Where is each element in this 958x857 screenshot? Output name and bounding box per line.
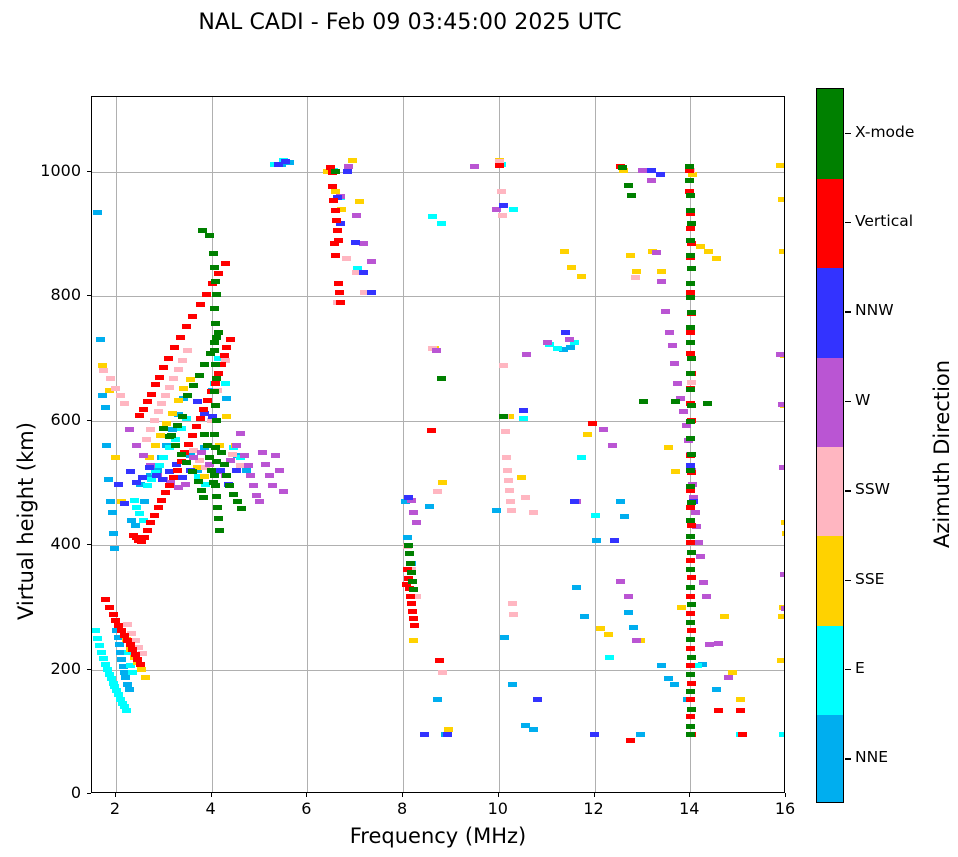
scatter-marker-vertical xyxy=(410,623,419,628)
scatter-marker-vertical xyxy=(170,345,179,350)
scatter-marker-ssw xyxy=(508,601,517,606)
scatter-marker-w xyxy=(657,279,666,284)
scatter-marker-x-mode xyxy=(195,373,204,378)
scatter-marker-ssw xyxy=(498,213,507,218)
scatter-marker-w xyxy=(132,443,141,448)
scatter-marker-x-mode xyxy=(406,561,415,566)
scatter-marker-vertical xyxy=(146,520,155,525)
scatter-marker-x-mode xyxy=(687,310,696,315)
scatter-marker-x-mode xyxy=(499,414,508,419)
scatter-marker-x-mode xyxy=(686,281,695,286)
scatter-marker-vertical xyxy=(686,714,695,719)
scatter-marker-w xyxy=(236,431,245,436)
scatter-marker-w xyxy=(696,554,705,559)
scatter-marker-x-mode xyxy=(686,567,695,572)
x-tick-label: 2 xyxy=(85,799,145,818)
scatter-marker-x-mode xyxy=(686,468,695,473)
scatter-marker-ssw xyxy=(507,508,516,513)
scatter-marker-x-mode xyxy=(206,351,215,356)
scatter-marker-nnw xyxy=(120,501,129,506)
scatter-marker-vertical xyxy=(686,611,695,616)
scatter-marker-vertical xyxy=(686,226,695,231)
scatter-marker-sse xyxy=(560,249,569,254)
colorbar-segment-nne xyxy=(817,715,843,803)
scatter-marker-vertical xyxy=(199,407,208,412)
scatter-marker-e xyxy=(428,214,437,219)
scatter-marker-nnw xyxy=(126,469,135,474)
scatter-marker-x-mode xyxy=(686,620,695,625)
scatter-marker-x-mode xyxy=(167,433,176,438)
scatter-marker-x-mode xyxy=(685,164,694,169)
scatter-marker-x-mode xyxy=(197,488,206,493)
scatter-marker-sse xyxy=(517,475,526,480)
scatter-marker-w xyxy=(249,483,258,488)
scatter-marker-nne xyxy=(492,508,501,513)
scatter-marker-vertical xyxy=(202,292,211,297)
scatter-marker-vertical xyxy=(687,575,696,580)
colorbar-label-ssw: SSW xyxy=(855,480,890,498)
scatter-marker-w xyxy=(265,473,274,478)
scatter-marker-sse xyxy=(151,443,160,448)
scatter-marker-x-mode xyxy=(212,494,221,499)
scatter-marker-vertical xyxy=(427,428,436,433)
scatter-marker-w xyxy=(780,572,785,577)
scatter-marker-x-mode xyxy=(212,418,221,423)
scatter-marker-ssw xyxy=(161,393,170,398)
scatter-marker-x-mode xyxy=(639,399,648,404)
scatter-marker-e xyxy=(132,505,141,510)
scatter-marker-e xyxy=(128,670,137,675)
scatter-marker-vertical xyxy=(331,253,340,258)
figure-title: NAL CADI - Feb 09 03:45:00 2025 UTC xyxy=(0,10,820,35)
scatter-marker-x-mode xyxy=(331,169,340,174)
scatter-marker-x-mode xyxy=(671,399,680,404)
scatter-marker-w xyxy=(252,493,261,498)
scatter-marker-sse xyxy=(781,520,785,525)
scatter-marker-x-mode xyxy=(205,233,214,238)
y-tick xyxy=(87,171,91,172)
colorbar-tick xyxy=(845,222,851,223)
scatter-marker-sse xyxy=(355,199,364,204)
plot-area xyxy=(91,96,785,793)
scatter-marker-x-mode xyxy=(189,383,198,388)
scatter-marker-vertical xyxy=(139,407,148,412)
scatter-marker-x-mode xyxy=(213,505,222,510)
scatter-marker-x-mode xyxy=(212,376,221,381)
colorbar-segment-w xyxy=(817,357,843,447)
scatter-marker-w xyxy=(673,381,682,386)
scatter-marker-x-mode xyxy=(687,221,696,226)
scatter-marker-nne xyxy=(636,732,645,737)
scatter-marker-x-mode xyxy=(686,295,695,300)
scatter-marker-w xyxy=(409,510,418,515)
scatter-marker-ssw xyxy=(154,409,163,414)
scatter-marker-w xyxy=(232,443,241,448)
scatter-marker-vertical xyxy=(165,483,174,488)
x-tick xyxy=(785,793,786,797)
scatter-marker-x-mode xyxy=(199,495,208,500)
scatter-marker-w xyxy=(271,453,280,458)
scatter-marker-sse xyxy=(583,432,592,437)
scatter-marker-vertical xyxy=(687,628,696,633)
scatter-marker-vertical xyxy=(333,228,342,233)
scatter-marker-x-mode xyxy=(210,306,219,311)
y-tick xyxy=(87,669,91,670)
scatter-marker-nnw xyxy=(519,408,528,413)
scatter-marker-vertical xyxy=(626,738,635,743)
scatter-marker-vertical xyxy=(220,353,229,358)
scatter-marker-nne xyxy=(508,682,517,687)
scatter-marker-vertical xyxy=(588,421,597,426)
scatter-marker-e xyxy=(553,346,562,351)
scatter-marker-nne xyxy=(657,663,666,668)
scatter-marker-w xyxy=(778,402,785,407)
scatter-marker-x-mode xyxy=(686,518,695,523)
scatter-marker-vertical xyxy=(328,184,337,189)
scatter-marker-nne xyxy=(403,535,412,540)
y-tick-label: 200 xyxy=(21,659,81,678)
scatter-marker-sse xyxy=(778,197,785,202)
scatter-marker-x-mode xyxy=(222,473,231,478)
scatter-marker-vertical xyxy=(335,290,344,295)
colorbar-segment-ssw xyxy=(817,447,843,537)
scatter-marker-nnw xyxy=(610,538,619,543)
x-tick xyxy=(498,793,499,797)
scatter-marker-vertical xyxy=(221,261,230,266)
scatter-marker-w xyxy=(661,309,670,314)
scatter-marker-sse xyxy=(712,256,721,261)
scatter-marker-vertical xyxy=(686,558,695,563)
scatter-marker-nnw xyxy=(656,172,665,177)
scatter-marker-x-mode xyxy=(686,253,695,258)
scatter-marker-vertical xyxy=(182,324,191,329)
x-tick-label: 8 xyxy=(372,799,432,818)
scatter-marker-x-mode xyxy=(178,414,187,419)
scatter-marker-nnw xyxy=(443,732,452,737)
scatter-marker-x-mode xyxy=(405,551,414,556)
scatter-marker-w xyxy=(470,164,479,169)
scatter-marker-e xyxy=(221,381,230,386)
scatter-marker-nnw xyxy=(158,477,167,482)
scatter-marker-vertical xyxy=(336,300,345,305)
colorbar-tick xyxy=(845,133,851,134)
x-tick-label: 14 xyxy=(659,799,719,818)
colorbar-tick xyxy=(845,758,851,759)
scatter-marker-x-mode xyxy=(210,432,219,437)
scatter-marker-w xyxy=(412,520,421,525)
scatter-marker-vertical xyxy=(143,528,152,533)
scatter-marker-vertical xyxy=(687,681,696,686)
scatter-marker-x-mode xyxy=(210,265,219,270)
scatter-marker-x-mode xyxy=(229,492,238,497)
scatter-marker-sse xyxy=(778,614,785,619)
scatter-marker-w xyxy=(279,489,288,494)
scatter-marker-x-mode xyxy=(183,393,192,398)
scatter-marker-x-mode xyxy=(211,279,220,284)
scatter-marker-x-mode xyxy=(203,443,212,448)
scatter-marker-ssw xyxy=(521,495,530,500)
scatter-marker-vertical xyxy=(154,505,163,510)
scatter-marker-x-mode xyxy=(225,483,234,488)
scatter-marker-x-mode xyxy=(686,238,695,243)
scatter-marker-nne xyxy=(529,727,538,732)
colorbar-tick xyxy=(845,311,851,312)
scatter-marker-nne xyxy=(109,531,118,536)
scatter-marker-nne xyxy=(96,337,105,342)
scatter-marker-vertical xyxy=(157,498,166,503)
scatter-marker-e xyxy=(130,498,139,503)
scatter-marker-nne xyxy=(624,610,633,615)
scatter-marker-vertical xyxy=(332,218,341,223)
scatter-marker-sse xyxy=(174,398,183,403)
colorbar-tick xyxy=(845,580,851,581)
x-tick-label: 16 xyxy=(755,799,815,818)
scatter-marker-x-mode xyxy=(237,506,246,511)
y-tick xyxy=(87,295,91,296)
x-tick-label: 10 xyxy=(468,799,528,818)
scatter-marker-w xyxy=(679,409,688,414)
scatter-marker-nnw xyxy=(178,475,187,480)
scatter-marker-x-mode xyxy=(686,637,695,642)
scatter-marker-nne xyxy=(425,504,434,509)
scatter-marker-vertical xyxy=(188,314,197,319)
scatter-marker-x-mode xyxy=(687,452,696,457)
scatter-marker-vertical xyxy=(214,271,223,276)
scatter-marker-sse xyxy=(179,386,188,391)
scatter-marker-w xyxy=(699,580,708,585)
scatter-marker-nnw xyxy=(232,468,241,473)
scatter-marker-w xyxy=(691,510,700,515)
scatter-marker-vertical xyxy=(331,208,340,213)
scatter-points xyxy=(92,97,784,792)
scatter-marker-x-mode xyxy=(686,371,695,376)
scatter-marker-sse xyxy=(348,158,357,163)
scatter-marker-w xyxy=(181,482,190,487)
scatter-marker-vertical xyxy=(226,337,235,342)
scatter-marker-x-mode xyxy=(686,419,695,424)
scatter-marker-x-mode xyxy=(687,403,696,408)
scatter-marker-vertical xyxy=(686,540,695,545)
scatter-marker-nne xyxy=(98,393,107,398)
scatter-marker-w xyxy=(652,250,661,255)
scatter-marker-e xyxy=(122,708,131,713)
scatter-marker-w xyxy=(776,352,785,357)
scatter-marker-w xyxy=(638,168,647,173)
scatter-marker-x-mode xyxy=(209,480,218,485)
scatter-marker-x-mode xyxy=(686,534,695,539)
scatter-marker-e xyxy=(97,650,106,655)
scatter-marker-e xyxy=(779,732,785,737)
scatter-marker-nnw xyxy=(367,290,376,295)
scatter-marker-ssw xyxy=(123,622,132,627)
scatter-marker-sse xyxy=(604,632,613,637)
scatter-marker-x-mode xyxy=(173,423,182,428)
scatter-marker-w xyxy=(624,594,633,599)
scatter-marker-x-mode xyxy=(686,325,695,330)
scatter-marker-sse xyxy=(141,675,150,680)
scatter-marker-ssw xyxy=(157,401,166,406)
scatter-marker-w xyxy=(694,540,703,545)
x-tick xyxy=(402,793,403,797)
scatter-marker-w xyxy=(255,499,264,504)
scatter-marker-x-mode xyxy=(686,732,695,737)
scatter-marker-x-mode xyxy=(214,330,223,335)
scatter-marker-nne xyxy=(433,697,442,702)
x-tick xyxy=(594,793,595,797)
scatter-marker-x-mode xyxy=(233,499,242,504)
scatter-marker-nne xyxy=(140,499,149,504)
scatter-marker-ssw xyxy=(142,437,151,442)
scatter-marker-e xyxy=(519,416,528,421)
scatter-marker-x-mode xyxy=(200,432,209,437)
scatter-marker-ssw xyxy=(438,670,447,675)
scatter-marker-w xyxy=(724,675,733,680)
scatter-marker-w xyxy=(543,340,552,345)
scatter-marker-x-mode xyxy=(686,387,695,392)
scatter-marker-nne xyxy=(620,514,629,519)
y-tick xyxy=(87,544,91,545)
scatter-marker-nnw xyxy=(114,482,123,487)
scatter-marker-vertical xyxy=(686,663,695,668)
scatter-marker-sse xyxy=(222,414,231,419)
scatter-marker-sse xyxy=(671,469,680,474)
scatter-marker-x-mode xyxy=(618,165,627,170)
scatter-marker-ssw xyxy=(116,393,125,398)
scatter-marker-nne xyxy=(102,443,111,448)
scatter-marker-ssw xyxy=(687,380,696,385)
scatter-marker-vertical xyxy=(196,416,205,421)
scatter-marker-ssw xyxy=(183,348,192,353)
scatter-marker-vertical xyxy=(334,281,343,286)
scatter-marker-vertical xyxy=(150,513,159,518)
scatter-marker-ssw xyxy=(499,363,508,368)
scatter-marker-sse xyxy=(438,480,447,485)
colorbar-label-e: E xyxy=(855,659,865,677)
scatter-marker-vertical xyxy=(140,535,149,540)
scatter-marker-w xyxy=(647,178,656,183)
scatter-marker-vertical xyxy=(176,335,185,340)
scatter-marker-e xyxy=(159,455,168,460)
scatter-marker-nne xyxy=(108,510,117,515)
y-tick-label: 0 xyxy=(21,783,81,802)
scatter-marker-w xyxy=(668,343,677,348)
scatter-marker-x-mode xyxy=(200,362,209,367)
scatter-marker-x-mode xyxy=(212,292,221,297)
scatter-marker-e xyxy=(91,628,100,633)
scatter-marker-nnw xyxy=(420,732,429,737)
scatter-marker-w xyxy=(616,579,625,584)
scatter-marker-x-mode xyxy=(205,455,214,460)
colorbar-segment-sse xyxy=(817,536,843,626)
scatter-marker-vertical xyxy=(686,505,695,510)
scatter-marker-ssw xyxy=(106,376,115,381)
scatter-marker-nnw xyxy=(561,330,570,335)
scatter-marker-sse xyxy=(626,253,635,258)
scatter-marker-sse xyxy=(567,265,576,270)
scatter-marker-ssw xyxy=(503,468,512,473)
scatter-marker-x-mode xyxy=(686,208,695,213)
scatter-marker-nnw xyxy=(132,480,141,485)
x-tick xyxy=(306,793,307,797)
scatter-marker-nne xyxy=(500,635,509,640)
scatter-marker-x-mode xyxy=(408,579,417,584)
scatter-marker-x-mode xyxy=(210,473,219,478)
scatter-marker-vertical xyxy=(687,523,696,528)
colorbar-segment-nnw xyxy=(817,268,843,358)
scatter-marker-w xyxy=(781,606,785,611)
scatter-marker-vertical xyxy=(192,424,201,429)
scatter-marker-nne xyxy=(117,657,126,662)
y-tick xyxy=(87,420,91,421)
scatter-marker-ssw xyxy=(501,429,510,434)
scatter-marker-sse xyxy=(168,411,177,416)
y-tick-label: 1000 xyxy=(21,161,81,180)
scatter-marker-sse xyxy=(577,274,586,279)
scatter-marker-ssw xyxy=(631,275,640,280)
scatter-marker-x-mode xyxy=(686,689,695,694)
scatter-marker-x-mode xyxy=(211,403,220,408)
scatter-marker-w xyxy=(632,638,641,643)
scatter-marker-vertical xyxy=(136,662,145,667)
scatter-marker-nnw xyxy=(351,240,360,245)
scatter-marker-w xyxy=(261,462,270,467)
scatter-marker-ssw xyxy=(502,455,511,460)
scatter-marker-vertical xyxy=(135,413,144,418)
scatter-marker-ssw xyxy=(138,651,147,656)
scatter-marker-nne xyxy=(131,523,140,528)
colorbar-label-sse: SSE xyxy=(855,570,884,588)
scatter-marker-w xyxy=(665,330,674,335)
scatter-marker-vertical xyxy=(686,697,695,702)
scatter-marker-x-mode xyxy=(159,426,168,431)
colorbar-segment-vertical xyxy=(817,178,843,268)
scatter-marker-ssw xyxy=(165,385,174,390)
scatter-marker-nne xyxy=(670,682,679,687)
scatter-marker-vertical xyxy=(109,612,118,617)
scatter-marker-x-mode xyxy=(687,602,696,607)
scatter-marker-w xyxy=(125,427,134,432)
scatter-marker-w xyxy=(367,259,376,264)
scatter-marker-e xyxy=(135,511,144,516)
scatter-marker-x-mode xyxy=(686,193,695,198)
scatter-marker-x-mode xyxy=(687,356,696,361)
scatter-marker-ssw xyxy=(509,612,518,617)
scatter-marker-x-mode xyxy=(687,266,696,271)
scatter-marker-x-mode xyxy=(437,376,446,381)
scatter-marker-w xyxy=(432,348,441,353)
scatter-marker-sse xyxy=(111,455,120,460)
scatter-marker-ssw xyxy=(99,368,108,373)
scatter-marker-nne xyxy=(93,210,102,215)
scatter-marker-ssw xyxy=(174,367,183,372)
scatter-marker-sse xyxy=(736,697,745,702)
scatter-marker-w xyxy=(714,641,723,646)
x-tick xyxy=(115,793,116,797)
scatter-marker-vertical xyxy=(686,330,695,335)
scatter-marker-x-mode xyxy=(687,707,696,712)
scatter-marker-vertical xyxy=(147,392,156,397)
colorbar-segment-x-mode xyxy=(817,89,843,179)
scatter-marker-x-mode xyxy=(214,516,223,521)
scatter-marker-x-mode xyxy=(686,484,695,489)
scatter-marker-nnw xyxy=(570,499,579,504)
scatter-marker-vertical xyxy=(164,356,173,361)
scatter-marker-nne xyxy=(104,477,113,482)
scatter-marker-vertical xyxy=(169,475,178,480)
scatter-marker-x-mode xyxy=(687,500,696,505)
scatter-marker-e xyxy=(437,221,446,226)
scatter-marker-nne xyxy=(121,675,130,680)
